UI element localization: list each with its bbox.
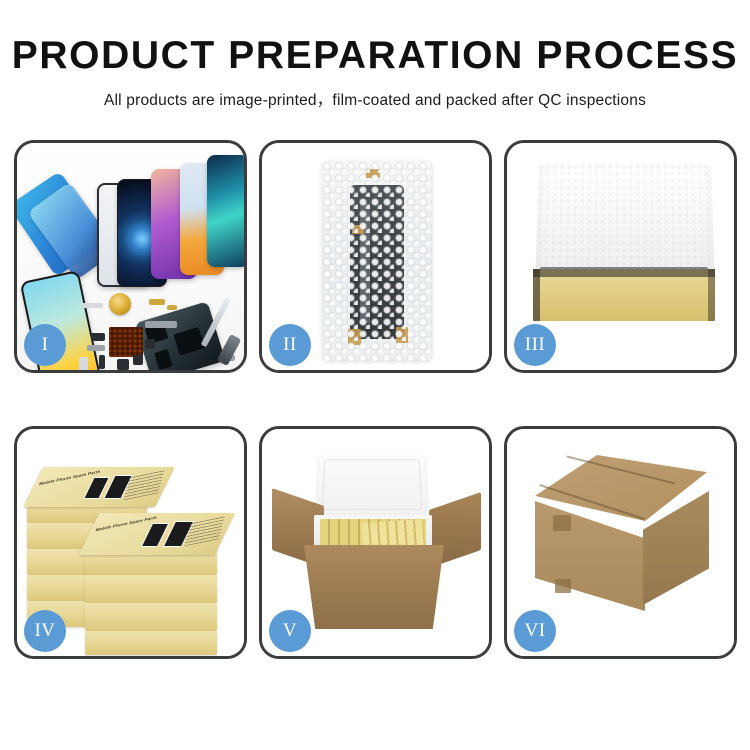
carton-tape [553,515,571,531]
process-grid: I II [14,140,736,659]
small-part [81,303,103,308]
small-part [149,299,165,305]
step-badge-4: IV [24,610,66,652]
box-right-edge [708,269,715,321]
process-step-6[interactable]: VI [504,426,737,659]
step-badge-6: VI [514,610,556,652]
speaker-coil [109,293,131,315]
foam-box-lid [316,455,427,515]
carton-body [304,545,444,629]
step-badge-2: II [269,324,311,366]
small-part [117,359,129,370]
header: PRODUCT PREPARATION PROCESS All products… [0,0,750,110]
small-part [133,355,143,365]
small-part [145,339,155,349]
step-badge-1: I [24,324,66,366]
small-part [87,345,105,351]
stacked-box [85,575,217,603]
stacked-box [85,603,217,631]
carton-front-face [535,501,645,611]
copper-chip-grid [109,327,143,357]
white-foam-lid [535,165,715,282]
process-step-1[interactable]: I [14,140,247,373]
yellow-box-base [533,269,715,321]
small-part [79,357,88,370]
flex-cable [145,321,177,328]
process-step-4[interactable]: Mobile Phone Spare Parts Mobile Phone Sp… [14,426,247,659]
bubble-texture [322,161,432,361]
step-badge-5: V [269,610,311,652]
process-step-5[interactable]: V [259,426,492,659]
small-part [167,305,177,310]
teal-phone-display [207,155,244,267]
small-part [99,355,105,369]
process-step-3[interactable]: III [504,140,737,373]
bubble-wrap-bag [322,161,432,361]
page-subtitle: All products are image-printed，film-coat… [0,88,750,110]
stacked-box [85,631,217,655]
carton-tape [555,579,571,593]
box-left-edge [533,269,540,321]
infographic-page: PRODUCT PREPARATION PROCESS All products… [0,0,750,750]
page-title: PRODUCT PREPARATION PROCESS [0,36,750,75]
second-box-lid: Mobile Phone Spare Parts [79,513,235,555]
process-step-2[interactable]: II [259,140,492,373]
box-top-edge [533,269,715,277]
top-box-lid: Mobile Phone Spare Parts [23,467,175,507]
small-part [91,333,105,341]
step-badge-3: III [514,324,556,366]
